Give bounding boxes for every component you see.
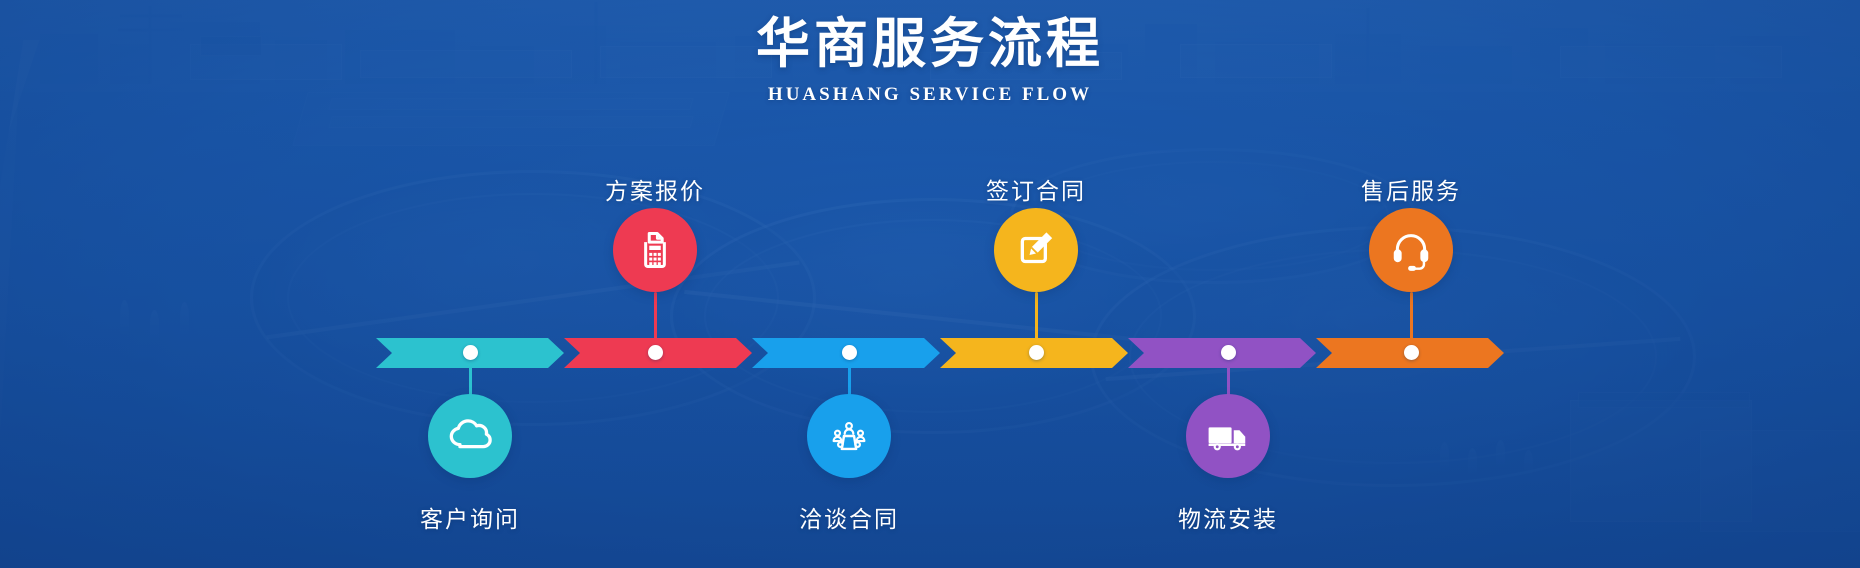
delivery-truck-icon — [1205, 413, 1251, 459]
flow-step-icon-bubble-2[interactable] — [613, 208, 697, 292]
flow-step-label-2: 方案报价 — [605, 172, 705, 206]
flow-connector-stem — [1410, 292, 1413, 344]
service-flow-banner: 华商服务流程 HUASHANG SERVICE FLOW 客户询问方案报价洽谈合… — [0, 0, 1860, 568]
page-title: 华商服务流程 — [0, 14, 1860, 74]
sign-contract-pencil-icon — [1013, 227, 1059, 273]
flow-node-dot[interactable] — [648, 345, 663, 360]
flow-node-dot[interactable] — [1029, 345, 1044, 360]
page-subtitle: HUASHANG SERVICE FLOW — [0, 84, 1860, 106]
flow-step-icon-bubble-3[interactable] — [807, 394, 891, 478]
flow-node-dot[interactable] — [1404, 345, 1419, 360]
flow-step-label-1: 客户询问 — [420, 500, 520, 534]
flow-step-icon-bubble-6[interactable] — [1369, 208, 1453, 292]
flow-step-icon-bubble-1[interactable] — [428, 394, 512, 478]
flow-node-dot[interactable] — [1221, 345, 1236, 360]
heading-block: 华商服务流程 HUASHANG SERVICE FLOW — [0, 14, 1860, 106]
flow-step-icon-bubble-4[interactable] — [994, 208, 1078, 292]
headset-support-icon — [1388, 227, 1434, 273]
flow-connector-stem — [654, 292, 657, 344]
flow-step-icon-bubble-5[interactable] — [1186, 394, 1270, 478]
flow-step-label-6: 售后服务 — [1361, 172, 1461, 206]
flow-connector-stem — [1035, 292, 1038, 344]
flow-node-dot[interactable] — [842, 345, 857, 360]
flow-node-dot[interactable] — [463, 345, 478, 360]
flow-step-label-3: 洽谈合同 — [799, 500, 899, 534]
meeting-table-icon — [826, 413, 872, 459]
flow-step-label-5: 物流安装 — [1178, 500, 1278, 534]
calculator-quote-icon — [632, 227, 678, 273]
flow-step-label-4: 签订合同 — [986, 172, 1086, 206]
chat-cloud-icon — [447, 413, 493, 459]
